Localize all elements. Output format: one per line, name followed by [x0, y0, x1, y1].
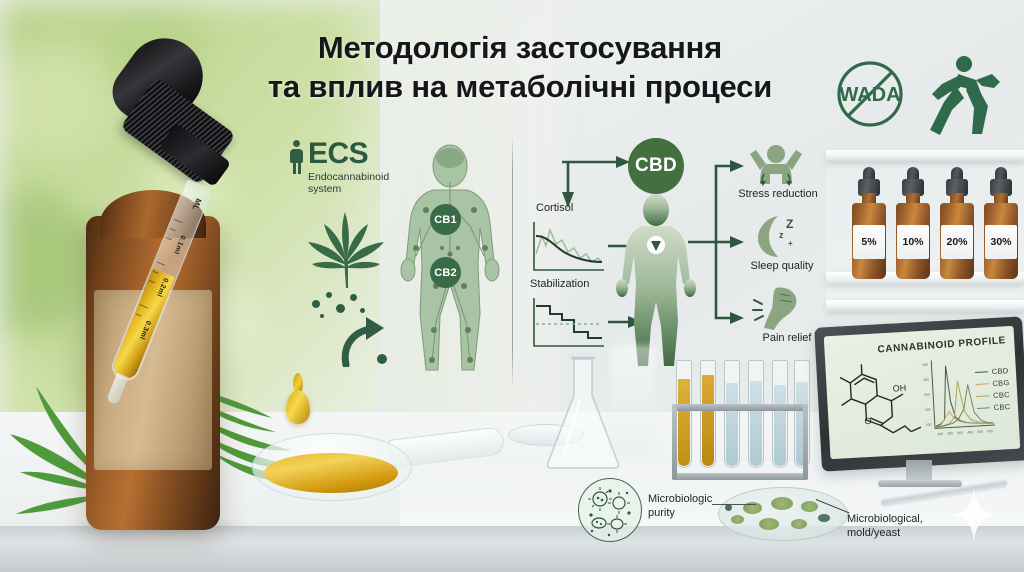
pain-relief-label: Pain relief — [752, 332, 822, 344]
svg-text:500: 500 — [977, 430, 983, 434]
microbiologic-leader-line — [712, 504, 756, 505]
ecs-subtitle: Endocannabinoid system — [308, 171, 389, 196]
svg-text:O: O — [864, 416, 872, 426]
test-tube-rack — [672, 360, 808, 485]
molecule-oh-label: OH — [892, 383, 906, 394]
test-tube — [676, 360, 692, 468]
legend-swatch — [977, 407, 990, 409]
concentration-bottle[interactable]: 10% — [896, 167, 930, 279]
test-tube — [772, 360, 788, 468]
bottle-strength-label: 30% — [985, 225, 1017, 259]
concentration-bottle[interactable]: 20% — [940, 167, 974, 279]
infographic-canvas: Методологія застосування та вплив на мет… — [0, 0, 1024, 572]
legend-label: CBC — [994, 402, 1011, 412]
svg-text:Z: Z — [786, 217, 793, 231]
rack-bar-top — [672, 404, 808, 411]
bottle-strength-label: 10% — [897, 225, 929, 259]
microbe-circle-icon — [578, 478, 642, 542]
svg-text:300: 300 — [924, 393, 930, 397]
glass-spoon — [252, 415, 502, 501]
moon-zzz-icon: Z z + — [748, 212, 804, 260]
microbiologic-purity-line-1: Microbiologic — [648, 492, 712, 506]
legend-item: CBC — [977, 402, 1012, 413]
legend-item: CBG — [975, 378, 1010, 389]
concentration-bottle[interactable]: 30% — [984, 167, 1018, 279]
wada-label: WADA — [839, 84, 900, 106]
legend-item: CBD — [975, 366, 1010, 377]
rack-bar-bottom — [672, 473, 808, 480]
shelf-top — [826, 150, 1024, 161]
title-line-2: та вплив на метаболічні процеси — [200, 67, 840, 106]
sparkle-icon — [952, 488, 996, 542]
microbiologic-purity-line-2: purity — [648, 506, 712, 520]
cannabinoid-molecule-diagram: OH O — [831, 357, 928, 454]
stabilization-chart — [530, 296, 606, 352]
receptor-cb2-badge: CB2 — [430, 257, 461, 288]
person-icon — [290, 140, 303, 174]
rack-leg-left — [672, 404, 677, 480]
microbiologic-purity-label: Microbiologic purity — [648, 492, 712, 521]
ecs-section: ECS Endocannabinoid system — [290, 140, 505, 390]
legend-label: CBD — [992, 366, 1009, 376]
concentration-bottle[interactable]: 5% — [852, 167, 886, 279]
dropper-cap-assembly[interactable] — [95, 28, 265, 213]
legend-swatch — [975, 371, 988, 373]
cannabis-leaf-icon — [298, 210, 394, 290]
raised-arms-icon — [748, 138, 804, 186]
svg-text:400: 400 — [967, 430, 973, 434]
svg-text:500: 500 — [922, 363, 928, 367]
petri-dish-icon — [718, 487, 848, 541]
svg-text:100: 100 — [937, 432, 943, 436]
knee-pain-icon — [750, 284, 806, 332]
receptor-cb1-badge: CB1 — [430, 204, 461, 235]
title-line-1: Методологія застосування — [200, 28, 840, 67]
legend-swatch — [976, 395, 989, 397]
legend-label: CBG — [992, 378, 1010, 388]
svg-text:200: 200 — [947, 431, 953, 435]
svg-text:z: z — [779, 230, 784, 240]
cortisol-label: Cortisol — [536, 202, 573, 214]
test-tube — [724, 360, 740, 468]
shelf-bottom — [826, 300, 1024, 311]
chart-legend: CBD CBG CBC CBC — [975, 366, 1012, 416]
svg-text:+: + — [788, 239, 793, 248]
svg-text:300: 300 — [957, 431, 963, 435]
lab-monitor: CANNABINOID PROFILE OH O — [818, 322, 1024, 466]
legend-swatch — [975, 383, 988, 385]
section-divider — [512, 135, 513, 387]
svg-text:600: 600 — [987, 429, 993, 433]
sleep-quality-label: Sleep quality — [742, 260, 822, 272]
monitor-screen: CANNABINOID PROFILE OH O — [824, 326, 1021, 459]
ecs-subtitle-line-1: Endocannabinoid — [308, 171, 389, 183]
stress-reduction-label: Stress reduction — [738, 188, 818, 200]
svg-text:100: 100 — [926, 423, 932, 427]
svg-text:200: 200 — [925, 408, 931, 412]
spoon-oil — [264, 453, 398, 493]
legend-label: CBC — [993, 390, 1010, 400]
bottle-strength-label: 20% — [941, 225, 973, 259]
monitor-base — [878, 480, 962, 487]
page-title: Методологія застосування та вплив на мет… — [200, 28, 840, 106]
wada-badge-group: WADA — [832, 50, 1012, 142]
main-oil-bottle[interactable] — [86, 190, 220, 530]
rack-leg-right — [803, 404, 808, 480]
curved-arrow-icon — [340, 315, 394, 367]
mold-yeast-line-2: mold/yeast — [847, 526, 923, 540]
center-body-figure — [616, 194, 696, 366]
ecs-heading: ECS Endocannabinoid system — [290, 140, 389, 195]
ecs-abbreviation: ECS — [308, 140, 389, 168]
background-tube-blur — [610, 345, 656, 455]
test-tube — [700, 360, 716, 468]
svg-text:400: 400 — [923, 378, 929, 382]
legend-item: CBC — [976, 390, 1011, 401]
running-man-icon — [930, 56, 1000, 135]
cortisol-chart — [530, 220, 606, 276]
test-tube — [748, 360, 764, 468]
cbd-flow-diagram: CBD — [520, 130, 830, 380]
monitor-stand — [906, 460, 932, 482]
ecs-subtitle-line-2: system — [308, 183, 389, 195]
mold-yeast-line-1: Microbiological, — [847, 512, 923, 526]
mold-yeast-label: Microbiological, mold/yeast — [847, 512, 923, 541]
bottle-strength-label: 5% — [853, 225, 885, 259]
stabilization-label: Stabilization — [530, 278, 589, 290]
pipette-tip — [106, 373, 128, 405]
